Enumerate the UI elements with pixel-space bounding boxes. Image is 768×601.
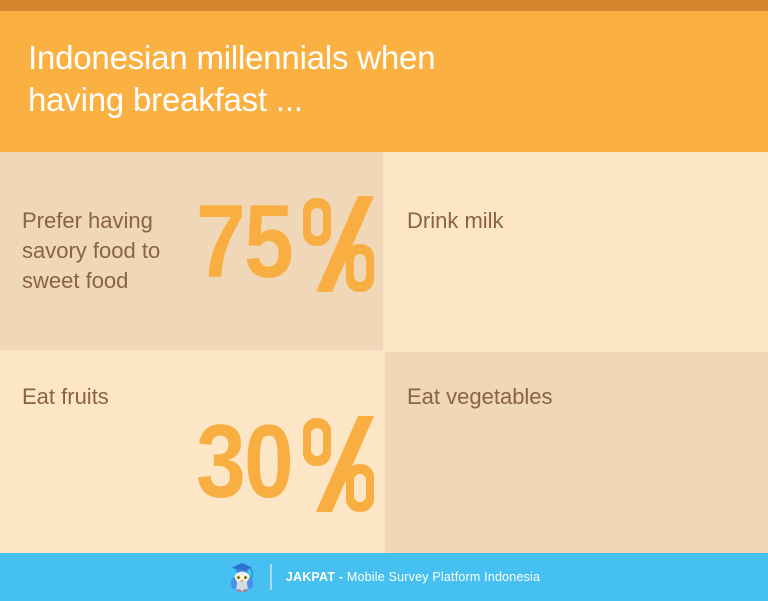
stat-number: 30 (196, 414, 292, 510)
stat-cell-drink-milk: Drink milk 41 (385, 152, 768, 350)
footer-content: JAKPAT - Mobile Survey Platform Indonesi… (0, 553, 768, 601)
stat-label: Eat fruits (22, 382, 109, 412)
footer-credit: JAKPAT - Mobile Survey Platform Indonesi… (286, 570, 540, 584)
percent-sign-icon (302, 194, 378, 294)
infographic-canvas: Indonesian millennials when having break… (0, 0, 768, 601)
footer-bar: JAKPAT - Mobile Survey Platform Indonesi… (0, 553, 768, 601)
stat-value: 30 (196, 414, 378, 514)
stat-cell-savory-food: Prefer having savory food to sweet food … (0, 152, 383, 350)
stat-label: Drink milk (407, 206, 504, 236)
stat-cell-eat-fruits: Eat fruits 30 (0, 352, 383, 553)
top-accent-strip (0, 0, 768, 11)
brand-name: JAKPAT - (286, 570, 343, 584)
brand-tagline: Mobile Survey Platform Indonesia (347, 570, 540, 584)
stat-label: Eat vegetables (407, 382, 553, 412)
footer-divider (270, 564, 272, 590)
page-title: Indonesian millennials when having break… (28, 37, 648, 121)
stat-value: 75 (196, 194, 378, 294)
stat-number: 75 (196, 194, 292, 290)
stat-cell-eat-vegetables: Eat vegetables 65 (385, 352, 768, 553)
stat-label: Prefer having savory food to sweet food (22, 206, 160, 296)
stat-grid: Prefer having savory food to sweet food … (0, 152, 768, 553)
header-band: Indonesian millennials when having break… (0, 11, 768, 152)
owl-logo-icon (228, 562, 256, 592)
percent-sign-icon (302, 414, 378, 514)
